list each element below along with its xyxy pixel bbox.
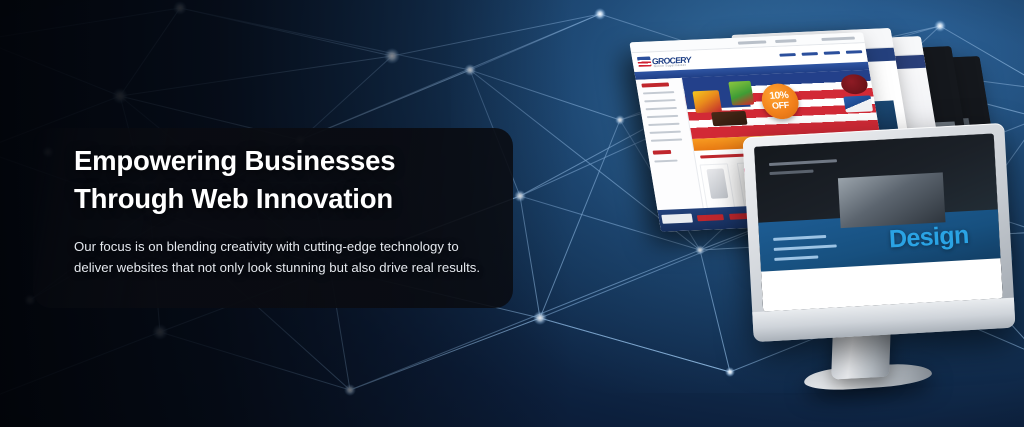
monitor-site-word: Design bbox=[888, 221, 969, 254]
monitor-screen: Design bbox=[754, 133, 1003, 311]
device-showcase-artwork: es bbox=[600, 0, 1024, 427]
page-title: Empowering Businesses Through Web Innova… bbox=[74, 142, 504, 218]
monitor-bezel: Design bbox=[742, 123, 1015, 342]
grocery-logo: GROCERY Online Supermarket bbox=[637, 53, 698, 68]
discount-badge: 10% OFF bbox=[759, 83, 801, 120]
desktop-monitor: Design bbox=[748, 130, 1010, 380]
hero-copy: Empowering Businesses Through Web Innova… bbox=[74, 142, 504, 278]
hero-description: Our focus is on blending creativity with… bbox=[74, 237, 494, 278]
hero-banner: es bbox=[0, 0, 1024, 427]
grocery-promo-banner: 10% OFF bbox=[682, 70, 879, 139]
product-cell bbox=[699, 163, 735, 210]
